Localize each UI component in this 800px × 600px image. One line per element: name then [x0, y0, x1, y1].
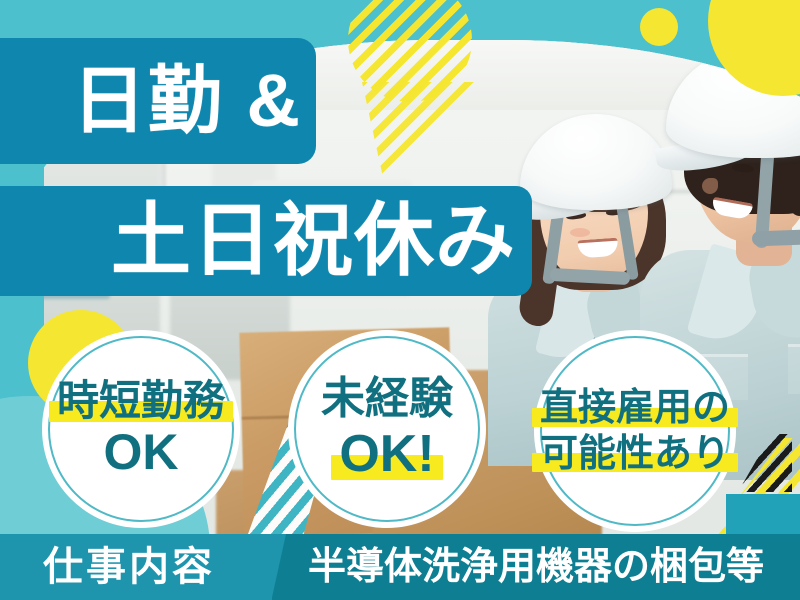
badge-short-hours-line-2: OK	[104, 426, 179, 479]
worker-man-sideburn	[790, 150, 800, 216]
worker-woman-cheek	[570, 228, 590, 237]
badge-no-experience: 未経験 OK!	[288, 330, 486, 528]
badge-short-hours: 時短勤務 OK	[42, 330, 240, 528]
job-advertisement-banner: 日勤 & 土日祝休み 時短勤務 OK 未経験 OK! 直接雇用の 可能性あり 仕…	[0, 0, 800, 600]
feature-badges-group: 時短勤務 OK 未経験 OK! 直接雇用の 可能性あり	[0, 328, 800, 524]
bottom-bar-label: 仕事内容	[43, 547, 215, 587]
badge-short-hours-line-1: 時短勤務	[57, 379, 225, 424]
badge-no-experience-line-2: OK!	[339, 427, 434, 482]
yellow-dot-decoration	[640, 8, 678, 46]
bottom-bar-description-section: 半導体洗浄用機器の梱包等	[272, 534, 800, 600]
bottom-info-bar: 仕事内容 半導体洗浄用機器の梱包等	[0, 534, 800, 600]
bottom-bar-label-section: 仕事内容	[0, 534, 272, 600]
headline-band-primary: 日勤 &	[0, 38, 316, 164]
worker-man-nose	[702, 178, 718, 194]
bottom-bar-description: 半導体洗浄用機器の梱包等	[308, 548, 764, 586]
badge-no-experience-line-1: 未経験	[321, 376, 453, 423]
headline-line-2: 土日祝休み	[111, 201, 516, 281]
badge-direct-employment-line-2: 可能性あり	[540, 434, 730, 474]
worker-man-chin-strap	[752, 229, 800, 247]
badge-direct-employment: 直接雇用の 可能性あり	[534, 330, 736, 532]
headline-line-1: 日勤 &	[72, 64, 302, 138]
headline-band-secondary: 土日祝休み	[0, 186, 532, 296]
badge-direct-employment-line-1: 直接雇用の	[540, 388, 730, 428]
